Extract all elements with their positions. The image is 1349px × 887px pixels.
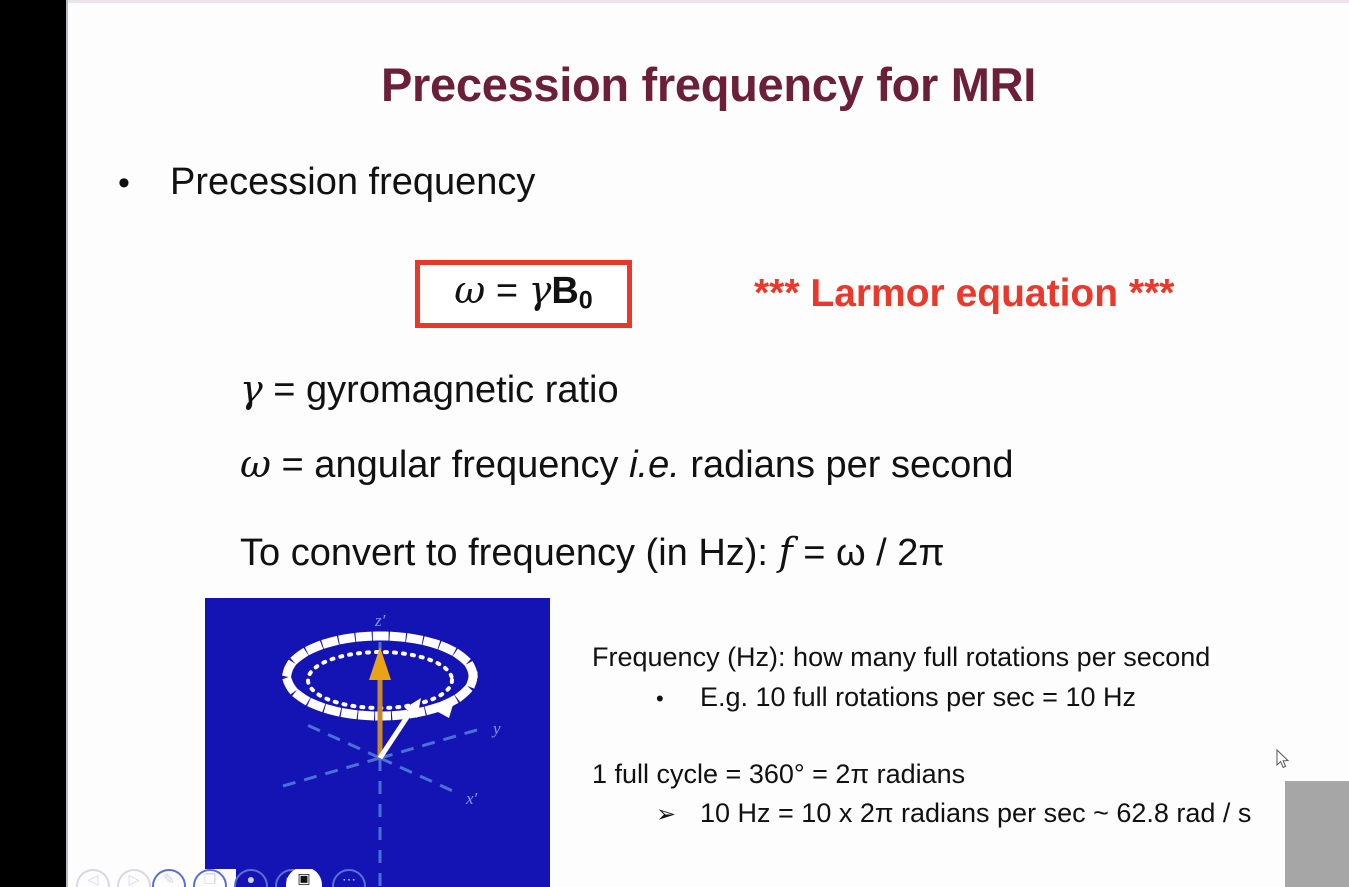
bullet-item-precession-frequency: • Precession frequency — [118, 161, 535, 204]
presentation-screen: Precession frequency for MRI • Precessio… — [0, 0, 1349, 887]
bullet-marker-icon: • — [118, 166, 170, 200]
definition-omega-emphasis: i.e. — [629, 444, 680, 486]
omega-symbol-definition: ω — [240, 442, 271, 486]
y-axis-label: y — [491, 719, 501, 738]
definition-omega: ω = angular frequency i.e. radians per s… — [240, 442, 1014, 487]
explanation-line-radians-example: ➢ 10 Hz = 10 x 2π radians per sec ~ 62.8… — [656, 798, 1251, 829]
slide-canvas: Precession frequency for MRI • Precessio… — [68, 0, 1349, 887]
explanation-line-radians-example-label: 10 Hz = 10 x 2π radians per sec ~ 62.8 r… — [700, 798, 1251, 829]
y-axis-line-negative — [283, 758, 380, 786]
definition-frequency-conversion: To convert to frequency (in Hz): f = ω /… — [240, 530, 945, 575]
larmor-equation-caption: *** Larmor equation *** — [754, 272, 1174, 316]
definition-gamma: γ = gyromagnetic ratio — [240, 367, 619, 412]
explanation-line-full-cycle: 1 full cycle = 360° = 2π radians — [592, 759, 965, 790]
share-screen-icon: ❐ — [193, 871, 227, 887]
equals-symbol: = — [485, 270, 528, 312]
more-options-icon: ⋯ — [332, 871, 366, 887]
x-axis-line-negative — [305, 724, 380, 758]
omega-symbol: ω — [454, 268, 485, 312]
gamma-symbol: γ — [529, 268, 552, 312]
explanation-line-frequency-definition: Frequency (Hz): how many full rotations … — [592, 642, 1210, 673]
slide-top-rule — [68, 0, 1349, 3]
gamma-symbol-definition: γ — [240, 367, 263, 411]
f-symbol: f — [779, 530, 793, 574]
letterbox-left-band — [0, 0, 66, 887]
precession-diagram-svg: z′ y x′ — [205, 598, 550, 887]
rotation-direction-arrowhead — [427, 698, 455, 718]
pen-icon: ✎ — [152, 871, 186, 887]
side-panel-placeholder — [1285, 781, 1349, 887]
x-axis-label: x′ — [465, 789, 478, 808]
explanation-line-frequency-example-label: E.g. 10 full rotations per sec = 10 Hz — [700, 682, 1136, 713]
camera-icon: ▣ — [286, 870, 322, 887]
bullet-item-label: Precession frequency — [170, 161, 535, 204]
explanation-line-frequency-example: • E.g. 10 full rotations per sec = 10 Hz — [656, 682, 1136, 713]
definition-gamma-body: = gyromagnetic ratio — [263, 369, 619, 411]
precession-diagram: z′ y x′ — [205, 598, 550, 887]
larmor-equation-box: ω = γB0 — [415, 260, 632, 328]
previous-slide-icon: ◁ — [76, 871, 110, 887]
z-axis-label: z′ — [374, 611, 386, 630]
conversion-lead-text: To convert to frequency (in Hz): — [240, 532, 779, 574]
conversion-tail-text: = ω / 2π — [793, 532, 945, 574]
meeting-toolbar[interactable]: ◁ ▷ ✎ ❐ ● ▭ ▣ ⋯ — [68, 869, 1349, 887]
field-subscript: 0 — [579, 287, 593, 315]
field-symbol: B — [551, 270, 578, 312]
arrow-bullet-icon: ➢ — [656, 800, 700, 829]
definition-omega-tail: radians per second — [680, 444, 1014, 486]
definition-omega-body: = angular frequency — [271, 444, 629, 486]
next-slide-icon: ▷ — [117, 871, 151, 887]
bullet-marker-icon: • — [656, 686, 700, 712]
microphone-icon: ● — [234, 871, 268, 887]
mouse-cursor — [1276, 749, 1290, 769]
x-axis-line-right — [380, 758, 455, 792]
larmor-equation-text: ω = γB0 — [454, 271, 592, 317]
page-title: Precession frequency for MRI — [68, 57, 1349, 112]
